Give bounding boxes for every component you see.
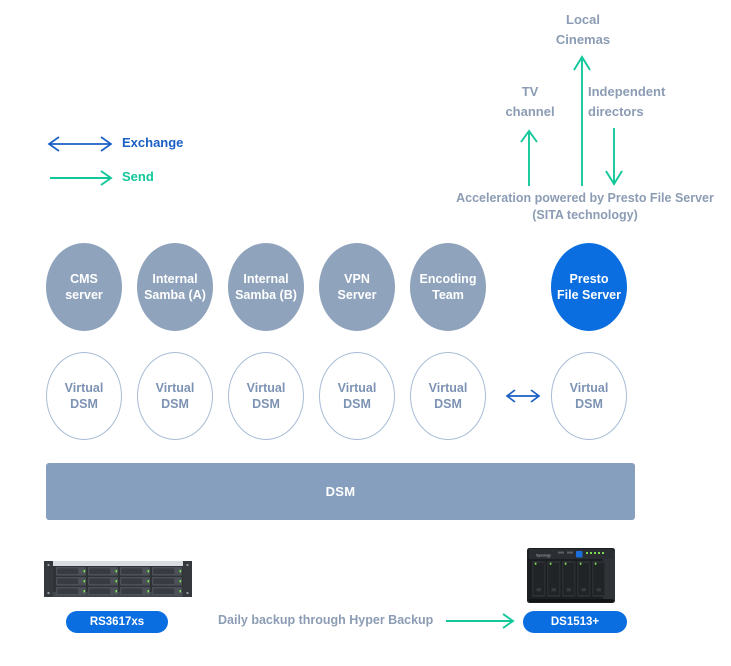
dsm-platform-label: DSM	[326, 484, 356, 499]
legend-label-exchange: Exchange	[122, 135, 183, 150]
output-label-local-cinemas: Local Cinemas	[533, 10, 633, 50]
service-node-presto-file-server[interactable]: Presto File Server	[551, 243, 627, 331]
independent-directors-arrow	[606, 128, 622, 184]
legend-label-send: Send	[122, 169, 154, 184]
arrow-right-icon	[46, 168, 112, 184]
service-node-cms-server[interactable]: CMS server	[46, 243, 122, 331]
output-label-tv-channel: TV channel	[489, 82, 571, 122]
acceleration-note-line1: Acceleration powered by Presto File Serv…	[449, 190, 721, 207]
legend-item-exchange: Exchange	[46, 134, 183, 150]
daily-backup-label: Daily backup through Hyper Backup	[218, 613, 433, 627]
acceleration-note-line2: (SITA technology)	[449, 207, 721, 224]
dsm-platform-bar[interactable]: DSM	[46, 463, 635, 520]
hardware-label-ds1513plus[interactable]: DS1513+	[523, 611, 627, 633]
virtual-dsm-node-5[interactable]: Virtual DSM	[410, 352, 486, 440]
hardware-label-rs3617xs[interactable]: RS3617xs	[66, 611, 168, 633]
diagram-canvas: .gstroke { stroke: #12c79a; stroke-width…	[0, 0, 731, 666]
service-node-internal-samba-a[interactable]: Internal Samba (A)	[137, 243, 213, 331]
double-arrow-icon	[46, 134, 112, 150]
virtual-dsm-node-2[interactable]: Virtual DSM	[137, 352, 213, 440]
virtual-dsm-node-4[interactable]: Virtual DSM	[319, 352, 395, 440]
legend-item-send: Send	[46, 168, 154, 184]
virtual-dsm-row: Virtual DSM Virtual DSM Virtual DSM Virt…	[46, 352, 642, 440]
service-node-vpn-server[interactable]: VPN Server	[319, 243, 395, 331]
virtual-dsm-node-1[interactable]: Virtual DSM	[46, 352, 122, 440]
daily-backup-arrow	[446, 614, 513, 628]
virtual-dsm-node-3[interactable]: Virtual DSM	[228, 352, 304, 440]
output-label-independent-directors: Independent directors	[588, 82, 708, 122]
hardware-label-ds1513plus-text: DS1513+	[551, 616, 599, 628]
hardware-label-rs3617xs-text: RS3617xs	[90, 616, 144, 628]
services-row: CMS server Internal Samba (A) Internal S…	[46, 243, 642, 331]
rackmount-nas-icon	[44, 561, 192, 597]
service-node-internal-samba-b[interactable]: Internal Samba (B)	[228, 243, 304, 331]
tv-channel-arrow	[521, 131, 537, 186]
acceleration-note: Acceleration powered by Presto File Serv…	[449, 190, 721, 224]
svg-text:Synology: Synology	[536, 553, 551, 557]
tower-nas-icon: Synology	[527, 548, 615, 603]
virtual-dsm-node-6[interactable]: Virtual DSM	[551, 352, 627, 440]
service-node-encoding-team[interactable]: Encoding Team	[410, 243, 486, 331]
